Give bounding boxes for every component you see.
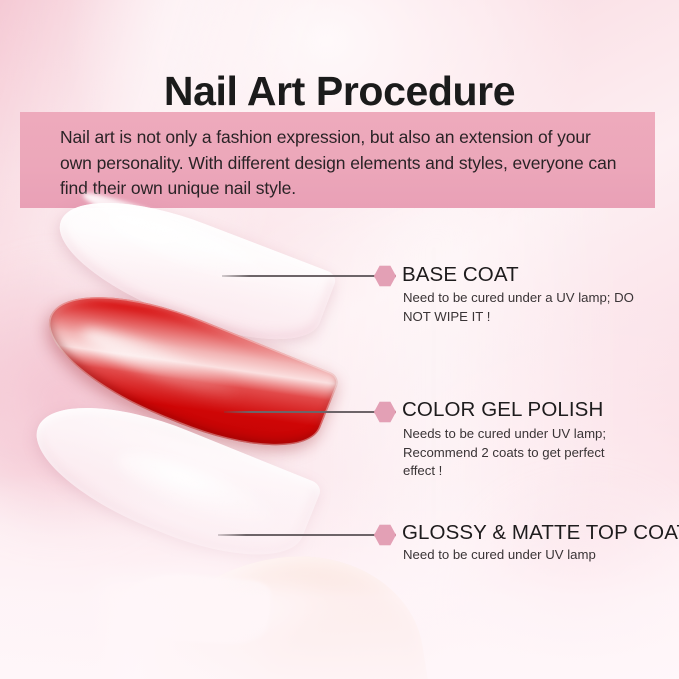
background-bottom-wash: [0, 475, 679, 679]
leader-line-color-gel-polish: [224, 411, 374, 413]
callout-body-color-gel-polish: Needs to be cured under UV lamp; Recomme…: [403, 425, 638, 481]
callout-title-glossy-matte-top-coat: GLOSSY & MATTE TOP COAT: [402, 521, 679, 545]
leader-line-glossy-matte-top-coat: [218, 534, 374, 536]
callout-title-base-coat: BASE COAT: [402, 263, 519, 287]
callout-body-base-coat: Need to be cured under a UV lamp; DO NOT…: [403, 289, 638, 326]
callout-title-color-gel-polish: COLOR GEL POLISH: [402, 398, 603, 422]
callout-body-glossy-matte-top-coat: Need to be cured under UV lamp: [403, 546, 653, 565]
nail-art-procedure-poster: Nail Art Procedure Nail art is not only …: [0, 0, 679, 679]
leader-line-base-coat: [222, 275, 374, 277]
base-coat-nail-gloss: [104, 202, 277, 294]
